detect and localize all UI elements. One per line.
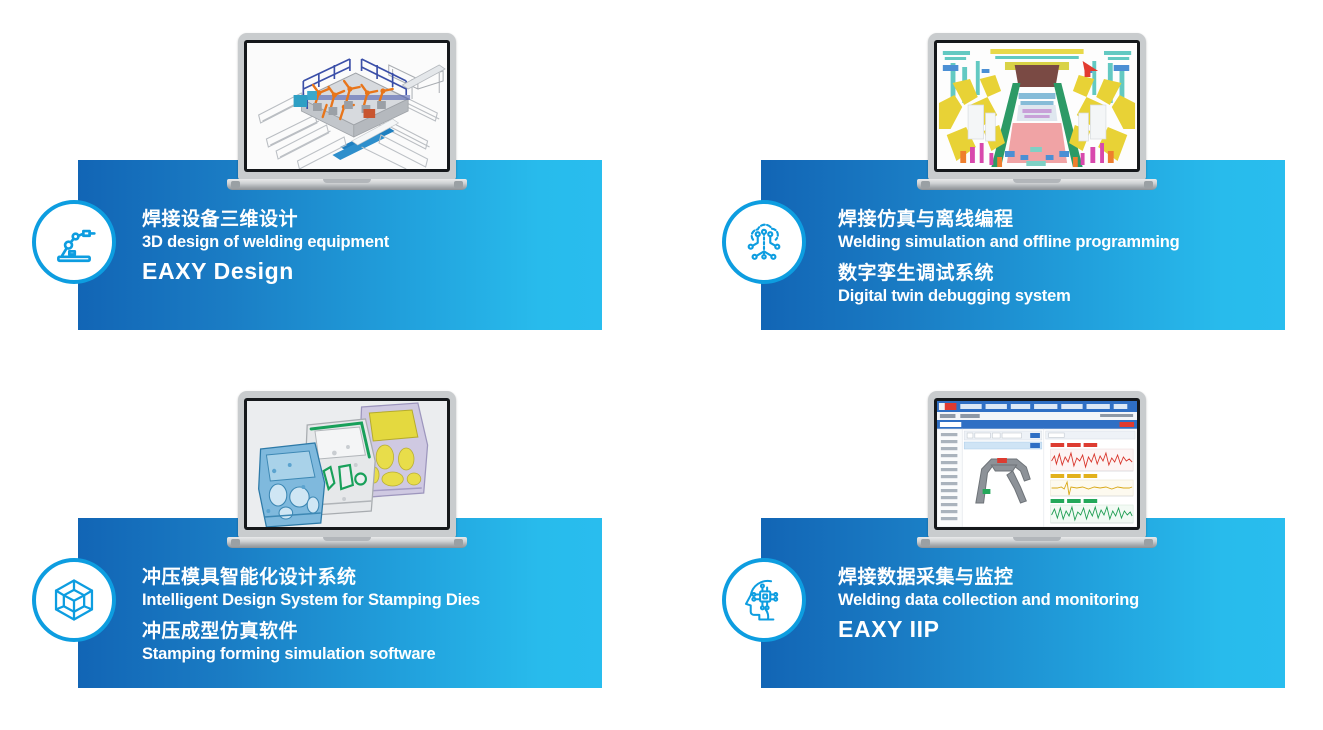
card-1-line-1: 焊接设备三维设计 3D design of welding equipment [142, 207, 389, 254]
brand-label: EAXY IIP [838, 614, 1139, 645]
screen-robot-simulation-car-body [937, 43, 1137, 169]
title-en: Intelligent Design System for Stamping D… [142, 590, 480, 611]
title-en: 3D design of welding equipment [142, 232, 389, 253]
laptop-foot-left [231, 539, 240, 546]
laptop-base [227, 179, 467, 190]
laptop-bezel [934, 398, 1140, 530]
laptop-lid [928, 391, 1146, 538]
card-3-line-2: 冲压成型仿真软件 Stamping forming simulation sof… [142, 619, 480, 666]
welding-robot-arm-icon [32, 200, 116, 284]
laptop-bezel [244, 40, 450, 172]
card-2-text: 焊接仿真与离线编程 Welding simulation and offline… [838, 207, 1179, 309]
laptop-lid [238, 33, 456, 180]
title-cn: 焊接设备三维设计 [142, 207, 389, 232]
laptop-base [227, 537, 467, 548]
laptop-base [917, 179, 1157, 190]
screen-car-door-panel-stamping-analysis [247, 401, 447, 527]
laptop-foot-right [1144, 181, 1153, 188]
card-3-text: 冲压模具智能化设计系统 Intelligent Design System fo… [142, 565, 480, 667]
ai-head-chip-icon [722, 558, 806, 642]
title-en: Stamping forming simulation software [142, 644, 480, 665]
laptop-lid [928, 33, 1146, 180]
card-2-line-2: 数字孪生调试系统 Digital twin debugging system [838, 261, 1179, 308]
laptop-mockup-3 [227, 391, 467, 551]
title-cn: 焊接仿真与离线编程 [838, 207, 1179, 232]
laptop-mockup-4 [917, 391, 1157, 551]
cloud-network-icon [722, 200, 806, 284]
brand-label: EAXY Design [142, 256, 389, 287]
poster-canvas: 焊接设备三维设计 3D design of welding equipment … [0, 0, 1323, 730]
screen-welding-monitoring-dashboard [937, 401, 1137, 527]
3d-cube-icon [32, 558, 116, 642]
title-cn: 冲压成型仿真软件 [142, 619, 480, 644]
laptop-mockup-1 [227, 33, 467, 193]
laptop-foot-right [1144, 539, 1153, 546]
card-4-line-1: 焊接数据采集与监控 Welding data collection and mo… [838, 565, 1139, 612]
laptop-foot-left [921, 539, 930, 546]
laptop-foot-right [454, 539, 463, 546]
title-en: Digital twin debugging system [838, 286, 1179, 307]
title-en: Welding simulation and offline programmi… [838, 232, 1179, 253]
laptop-mockup-2 [917, 33, 1157, 193]
title-cn: 冲压模具智能化设计系统 [142, 565, 480, 590]
title-cn: 数字孪生调试系统 [838, 261, 1179, 286]
screen-welding-line-3d-cad-layout [247, 43, 447, 169]
card-3-line-1: 冲压模具智能化设计系统 Intelligent Design System fo… [142, 565, 480, 612]
title-cn: 焊接数据采集与监控 [838, 565, 1139, 590]
laptop-lid [238, 391, 456, 538]
laptop-base [917, 537, 1157, 548]
laptop-foot-right [454, 181, 463, 188]
card-2-line-1: 焊接仿真与离线编程 Welding simulation and offline… [838, 207, 1179, 254]
title-en: Welding data collection and monitoring [838, 590, 1139, 611]
laptop-bezel [934, 40, 1140, 172]
laptop-bezel [244, 398, 450, 530]
card-4-text: 焊接数据采集与监控 Welding data collection and mo… [838, 565, 1139, 645]
laptop-foot-left [921, 181, 930, 188]
card-1-text: 焊接设备三维设计 3D design of welding equipment … [142, 207, 389, 287]
laptop-foot-left [231, 181, 240, 188]
